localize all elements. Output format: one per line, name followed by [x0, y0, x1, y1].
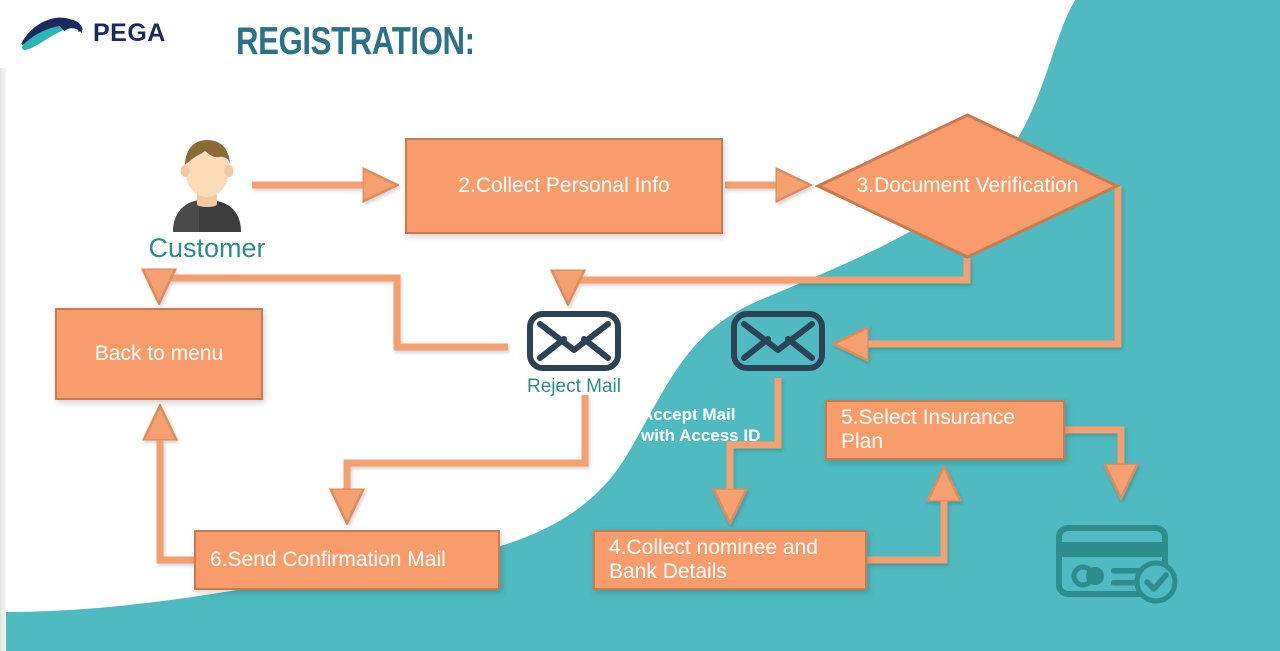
slide-canvas: PEGA REGISTRATION: Customer 2.Collec — [0, 0, 1280, 651]
edge-send-confirmation-to-back-to-menu — [160, 410, 194, 560]
accept-mail-note-line2: with Access ID — [641, 425, 791, 446]
pega-horse-logo-icon — [18, 12, 86, 54]
node-document-verification[interactable]: 3.Document Verification — [815, 112, 1120, 260]
edge-reject-mail-to-send-confirmation — [347, 395, 585, 519]
customer-label: Customer — [137, 234, 277, 264]
edge-insurance-to-card — [1065, 430, 1121, 494]
edge-verification-to-reject-mail — [568, 258, 967, 300]
customer-actor: Customer — [137, 132, 277, 268]
accept-mail-note-line1: Accept Mail — [641, 404, 791, 425]
pega-logo-text: PEGA — [93, 21, 166, 46]
accept-mail-note: Accept Mail with Access ID — [641, 404, 791, 447]
payment-card-node — [1055, 522, 1185, 604]
pega-logo[interactable]: PEGA — [18, 10, 193, 56]
credit-card-check-icon — [1055, 522, 1185, 604]
node-send-confirmation-mail[interactable]: 6.Send Confirmation Mail — [194, 530, 500, 590]
envelope-icon — [526, 310, 622, 372]
accept-mail-node[interactable] — [728, 310, 828, 372]
node-collect-nominee-bank-details[interactable]: 4.Collect nominee and Bank Details — [593, 530, 867, 590]
decision-diamond-shape — [815, 112, 1120, 260]
person-avatar-icon — [159, 132, 255, 232]
reject-mail-label: Reject Mail — [516, 376, 632, 398]
page-title: REGISTRATION: — [236, 20, 475, 64]
node-collect-personal-info[interactable]: 2.Collect Personal Info — [405, 138, 723, 234]
left-edge-strip — [0, 68, 6, 651]
reject-mail-node[interactable]: Reject Mail — [516, 310, 632, 398]
node-select-insurance-plan[interactable]: 5.Select Insurance Plan — [825, 400, 1065, 460]
node-back-to-menu[interactable]: Back to menu — [55, 308, 263, 400]
edge-nominee-to-insurance — [867, 471, 944, 560]
envelope-icon — [730, 310, 826, 372]
edge-accept-mail-to-nominee — [730, 378, 778, 519]
